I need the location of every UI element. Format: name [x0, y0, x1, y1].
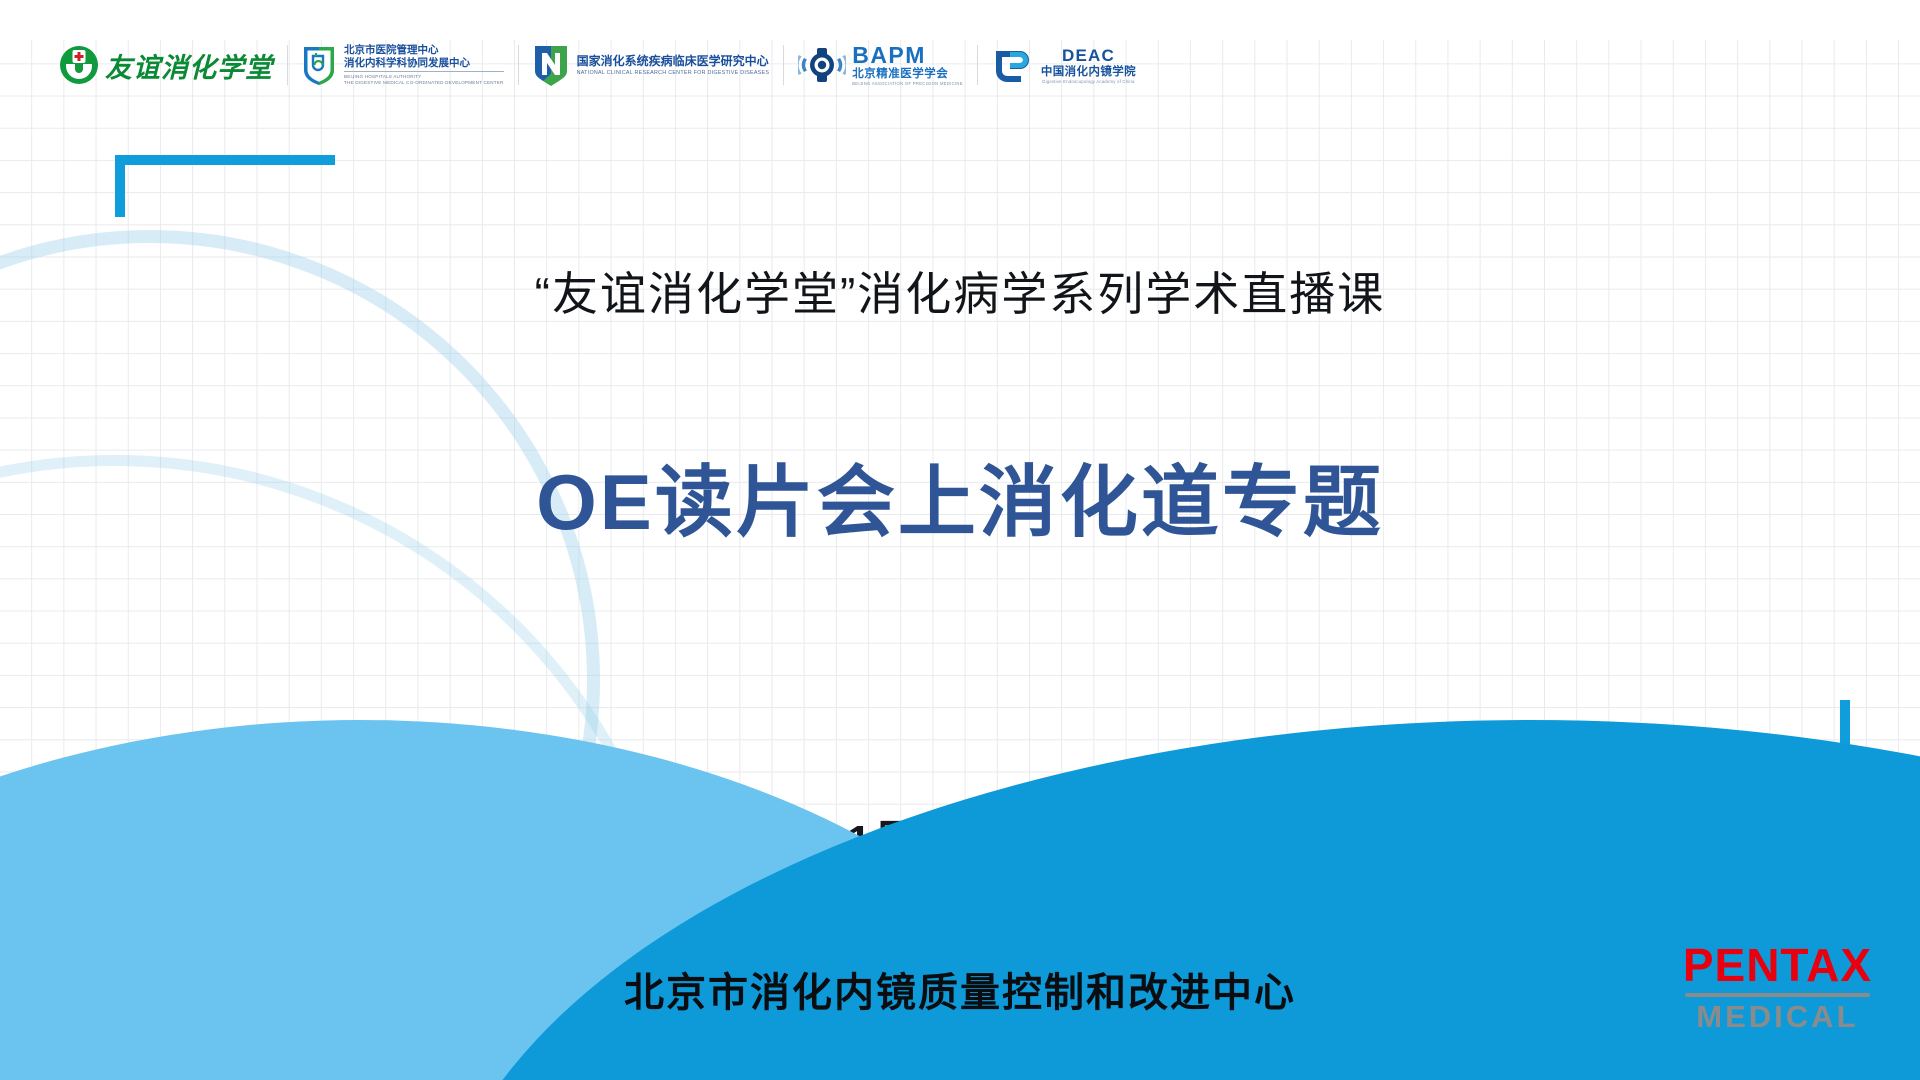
bapm-target-logo-icon — [798, 45, 846, 85]
logo-bapm: BAPM 北京精准医学学会 BEIJING ASSOCIATION OF PRE… — [784, 36, 977, 94]
partner-logo-strip: 友谊消化学堂 北京市医院管理中心 消化内科学科协同发展中心 BEIJING HO… — [46, 36, 1150, 94]
page-title: OE读片会上消化道专题 — [0, 440, 1920, 552]
logo4-en: BAPM — [852, 44, 963, 67]
logo3-cn: 国家消化系统疾病临床医学研究中心 — [577, 54, 770, 68]
pentax-medical-label: MEDICAL — [1683, 1001, 1872, 1032]
logo-beijing-hospital-admin-center: 北京市医院管理中心 消化内科学科协同发展中心 BEIJING HOSPITALS… — [288, 36, 518, 94]
logo-friendship-label: 友谊消化学堂 — [105, 46, 273, 85]
logo4-cn: 北京精准医学学会 — [852, 67, 963, 81]
pentax-rule — [1685, 993, 1870, 997]
logo-national-clinical-research-center: 国家消化系统疾病临床医学研究中心 NATIONAL CLINICAL RESEA… — [519, 36, 784, 94]
logo-deac: DEAC 中国消化内镜学院 Digestive Endoscopology Ac… — [978, 36, 1150, 94]
deac-hook-logo-icon — [992, 45, 1032, 85]
logo4-sub: BEIJING ASSOCIATION OF PRECISION MEDICIN… — [852, 81, 963, 87]
logo3-en: NATIONAL CLINICAL RESEARCH CENTER FOR DI… — [577, 70, 770, 77]
logo2-line2: 消化内科学科协同发展中心 — [344, 57, 504, 70]
logo2-en-line1: BEIJING HOSPITALS AUTHORITY — [344, 71, 504, 80]
logo5-en: DEAC — [1062, 46, 1115, 65]
n-shield-logo-icon — [533, 44, 569, 86]
presentation-slide: 友谊消化学堂 北京市医院管理中心 消化内科学科协同发展中心 BEIJING HO… — [0, 0, 1920, 1080]
shield-logo-icon — [302, 44, 336, 86]
friendship-green-circle-logo-icon — [60, 46, 98, 84]
logo-friendship-digestive-academy: 友谊消化学堂 — [46, 36, 287, 94]
corner-bracket-icon-top-left — [115, 155, 335, 217]
series-subtitle: “友谊消化学堂”消化病学系列学术直播课 — [0, 258, 1920, 324]
logo2-line1: 北京市医院管理中心 — [344, 44, 504, 57]
top-white-band — [0, 0, 1920, 40]
footer-organizer-label: 北京市消化内镜质量控制和改进中心 — [0, 960, 1920, 1018]
pentax-medical-logo: PENTAX MEDICAL — [1683, 942, 1872, 1032]
pentax-wordmark: PENTAX — [1683, 942, 1872, 988]
logo2-en-line2: THE DIGESTIVE MEDICAL CO-ORDINATED DEVEL… — [344, 80, 504, 86]
logo5-sub: Digestive Endoscopology Academy of China — [1042, 79, 1134, 85]
logo5-cn: 中国消化内镜学院 — [1041, 65, 1136, 79]
